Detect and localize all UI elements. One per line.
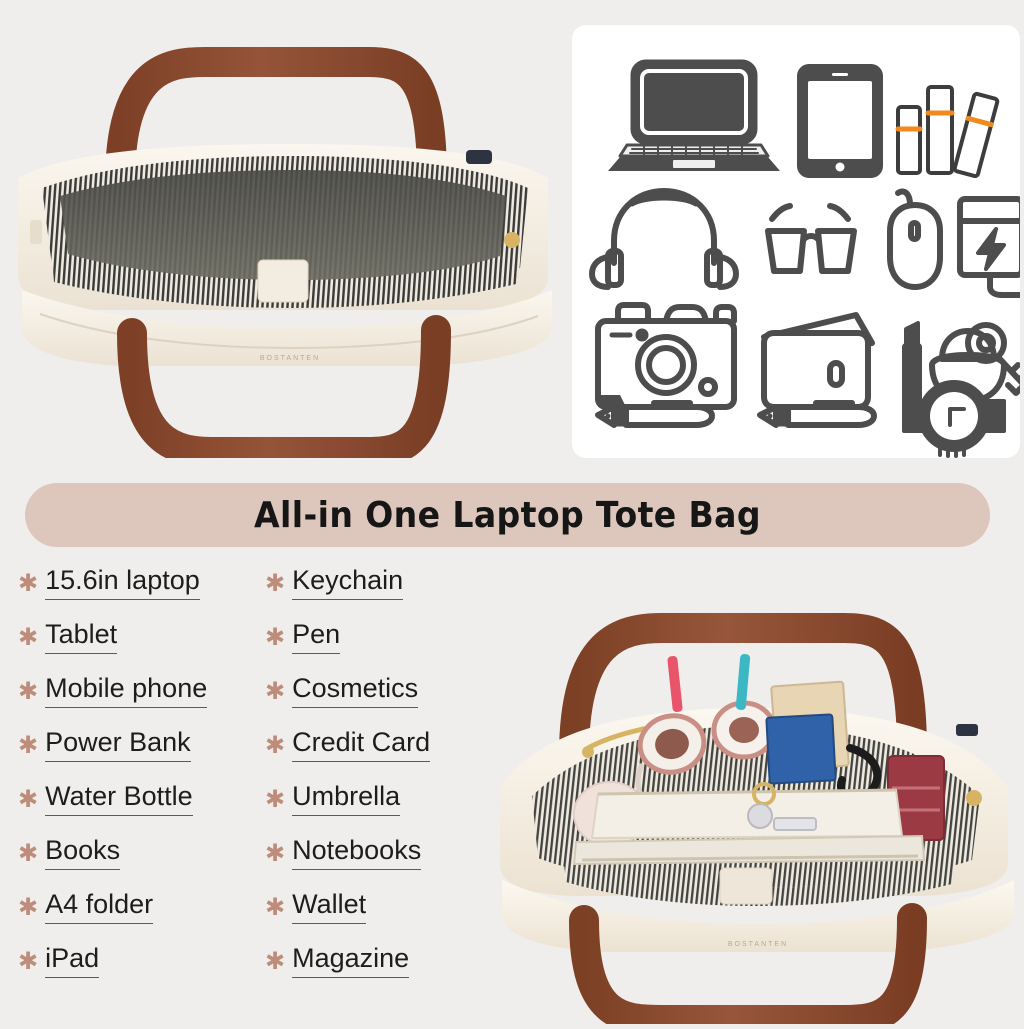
asterisk-bullet-icon: ✱ bbox=[18, 571, 38, 595]
list-item[interactable]: ✱ Books bbox=[18, 836, 268, 890]
pens-item bbox=[667, 654, 750, 713]
feature-label: Magazine bbox=[292, 944, 409, 978]
feature-label: iPad bbox=[45, 944, 99, 978]
list-item[interactable]: ✱ Power Bank bbox=[18, 728, 268, 782]
feature-label: Umbrella bbox=[292, 782, 400, 816]
list-item[interactable]: ✱ Keychain bbox=[265, 566, 515, 620]
list-item[interactable]: ✱ Umbrella bbox=[265, 782, 515, 836]
blue-notebook-item bbox=[766, 714, 835, 783]
laptop-item bbox=[592, 790, 902, 838]
feature-label: Credit Card bbox=[292, 728, 430, 762]
feature-label: Cosmetics bbox=[292, 674, 418, 708]
feature-label: Tablet bbox=[45, 620, 117, 654]
lipstick-icon bbox=[904, 323, 920, 405]
bag-brand-mark: BOSTANTEN bbox=[728, 941, 788, 948]
asterisk-bullet-icon: ✱ bbox=[18, 625, 38, 649]
asterisk-bullet-icon: ✱ bbox=[18, 949, 38, 973]
zipper-ring bbox=[582, 746, 594, 758]
asterisk-bullet-icon: ✱ bbox=[265, 679, 285, 703]
pen-icon bbox=[760, 403, 874, 425]
feature-list-left: ✱ 15.6in laptop ✱ Tablet ✱ Mobile phone … bbox=[18, 566, 268, 998]
asterisk-bullet-icon: ✱ bbox=[265, 949, 285, 973]
list-item[interactable]: ✱ Pen bbox=[265, 620, 515, 674]
contents-icon-card bbox=[572, 25, 1020, 458]
feature-label: Keychain bbox=[292, 566, 403, 600]
list-item[interactable]: ✱ Water Bottle bbox=[18, 782, 268, 836]
asterisk-bullet-icon: ✱ bbox=[265, 895, 285, 919]
feature-label: 15.6in laptop bbox=[45, 566, 200, 600]
laptop-icon bbox=[608, 63, 780, 171]
asterisk-bullet-icon: ✱ bbox=[265, 571, 285, 595]
key-icon bbox=[968, 325, 1020, 393]
top-bag-photo: BOSTANTEN bbox=[0, 28, 572, 458]
asterisk-bullet-icon: ✱ bbox=[265, 625, 285, 649]
feature-label: Wallet bbox=[292, 890, 366, 924]
asterisk-bullet-icon: ✱ bbox=[18, 895, 38, 919]
feature-label: Water Bottle bbox=[45, 782, 193, 816]
asterisk-bullet-icon: ✱ bbox=[18, 679, 38, 703]
title-banner: All-in One Laptop Tote Bag bbox=[25, 483, 990, 547]
list-item[interactable]: ✱ Credit Card bbox=[265, 728, 515, 782]
headphones-icon bbox=[592, 191, 736, 287]
pen-icon bbox=[598, 403, 712, 425]
list-item[interactable]: ✱ Notebooks bbox=[265, 836, 515, 890]
asterisk-bullet-icon: ✱ bbox=[265, 787, 285, 811]
asterisk-bullet-icon: ✱ bbox=[18, 733, 38, 757]
list-item[interactable]: ✱ Mobile phone bbox=[18, 674, 268, 728]
list-item[interactable]: ✱ iPad bbox=[18, 944, 268, 998]
bag-hardware-ring bbox=[504, 232, 520, 248]
list-item[interactable]: ✱ Cosmetics bbox=[265, 674, 515, 728]
feature-label: Pen bbox=[292, 620, 340, 654]
wallet-icon bbox=[764, 315, 872, 407]
bag-center-tab bbox=[720, 868, 772, 904]
feature-label: Power Bank bbox=[45, 728, 191, 762]
list-item[interactable]: ✱ Wallet bbox=[265, 890, 515, 944]
list-item[interactable]: ✱ Tablet bbox=[18, 620, 268, 674]
bottom-bag-photo: BOSTANTEN bbox=[492, 588, 1024, 1024]
asterisk-bullet-icon: ✱ bbox=[18, 841, 38, 865]
asterisk-bullet-icon: ✱ bbox=[18, 787, 38, 811]
list-item[interactable]: ✱ 15.6in laptop bbox=[18, 566, 268, 620]
camera-icon bbox=[598, 305, 734, 407]
feature-label: Books bbox=[45, 836, 120, 870]
books-icon bbox=[898, 87, 998, 177]
bag-brand-mark: BOSTANTEN bbox=[260, 355, 320, 362]
asterisk-bullet-icon: ✱ bbox=[265, 733, 285, 757]
bag-side-accent bbox=[466, 150, 492, 164]
feature-label: A4 folder bbox=[45, 890, 153, 924]
bag-center-tab bbox=[258, 260, 308, 302]
feature-label: Mobile phone bbox=[45, 674, 207, 708]
mouse-icon bbox=[890, 192, 940, 288]
list-item[interactable]: ✱ Magazine bbox=[265, 944, 515, 998]
glasses-icon bbox=[768, 206, 854, 271]
tablet-icon bbox=[800, 67, 880, 175]
bag-hardware-ring bbox=[966, 790, 982, 806]
list-item[interactable]: ✱ A4 folder bbox=[18, 890, 268, 944]
page-title: All-in One Laptop Tote Bag bbox=[254, 495, 761, 536]
feature-label: Notebooks bbox=[292, 836, 421, 870]
feature-list-right: ✱ Keychain ✱ Pen ✱ Cosmetics ✱ Credit Ca… bbox=[265, 566, 515, 998]
infographic-canvas: BOSTANTEN bbox=[0, 0, 1024, 1024]
bag-side-accent bbox=[956, 724, 978, 736]
asterisk-bullet-icon: ✱ bbox=[265, 841, 285, 865]
power-bank-icon bbox=[960, 199, 1020, 295]
bag-side-tab bbox=[30, 220, 42, 244]
